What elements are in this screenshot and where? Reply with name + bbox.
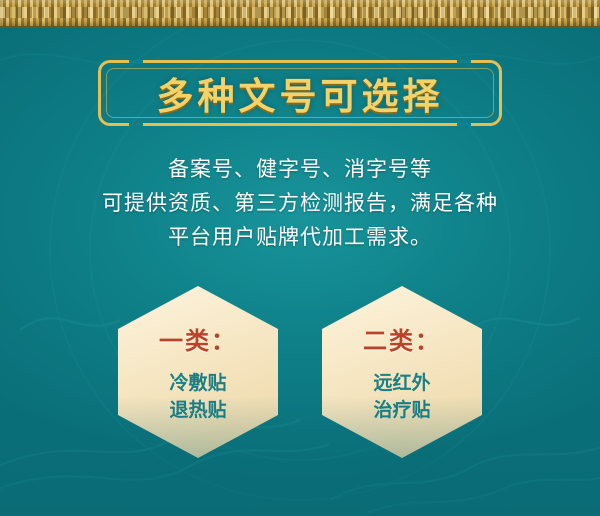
category-1-item-2: 退热贴 <box>169 397 226 424</box>
category-1-items: 冷敷贴 退热贴 <box>169 370 226 424</box>
body-line-1: 备案号、健字号、消字号等 <box>0 152 600 186</box>
category-1-heading: 一类： <box>159 321 237 356</box>
title-plaque: 多种文号可选择 <box>98 60 502 126</box>
category-1-item-1: 冷敷贴 <box>169 370 226 397</box>
poster-title: 多种文号可选择 <box>98 60 502 126</box>
category-hex-1: 一类： 冷敷贴 退热贴 <box>118 286 278 458</box>
category-2-items: 远红外 治疗贴 <box>373 370 430 424</box>
category-hexagons: 一类： 冷敷贴 退热贴 二类： 远红外 治疗贴 <box>0 286 600 458</box>
body-line-2: 可提供资质、第三方检测报告，满足各种 <box>0 186 600 220</box>
category-hex-2: 二类： 远红外 治疗贴 <box>322 286 482 458</box>
body-copy: 备案号、健字号、消字号等 可提供资质、第三方检测报告，满足各种 平台用户贴牌代加… <box>0 152 600 254</box>
category-2-heading: 二类： <box>363 321 441 356</box>
body-line-3: 平台用户贴牌代加工需求。 <box>0 220 600 254</box>
category-2-item-1: 远红外 <box>373 370 430 397</box>
ornamental-top-border <box>0 0 600 28</box>
category-2-item-2: 治疗贴 <box>373 397 430 424</box>
poster-canvas: 多种文号可选择 备案号、健字号、消字号等 可提供资质、第三方检测报告，满足各种 … <box>0 0 600 516</box>
